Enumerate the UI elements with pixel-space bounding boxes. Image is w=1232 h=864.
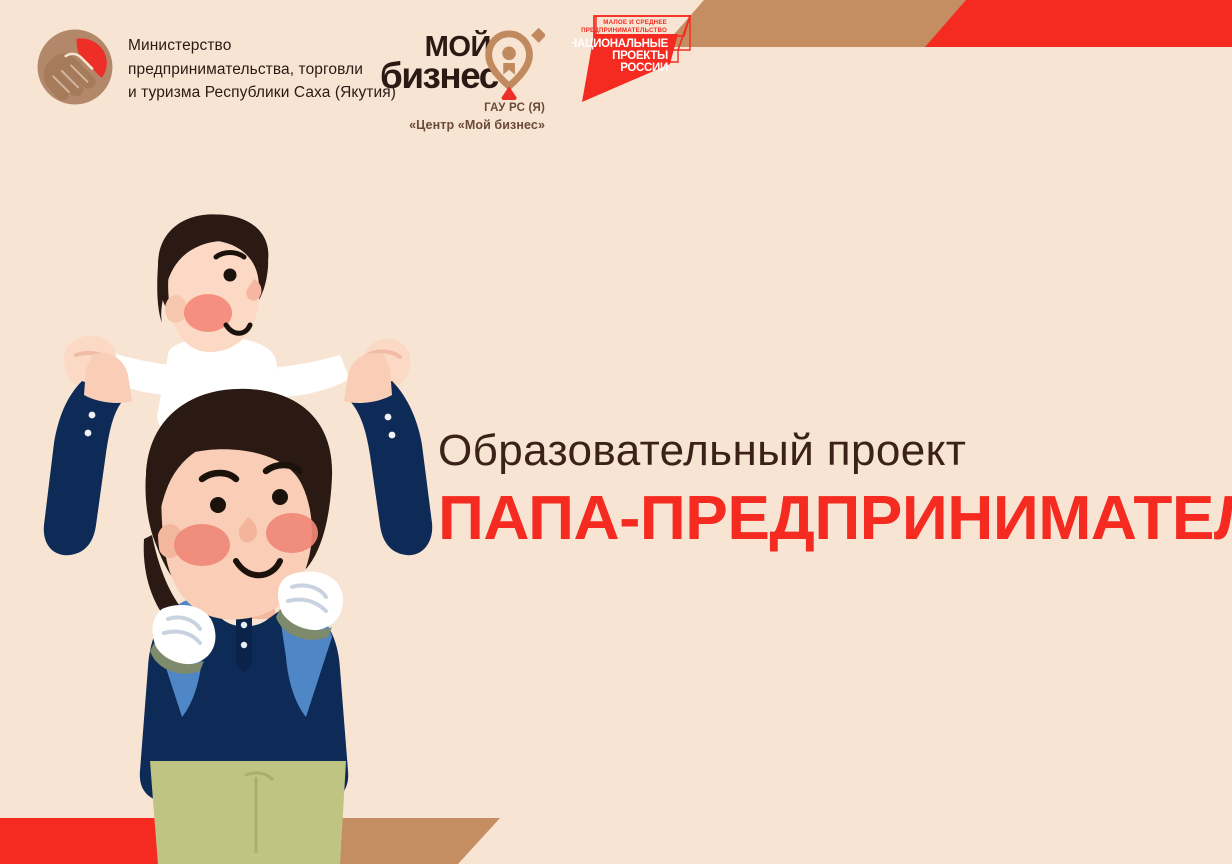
mybiz-sub-line2: «Центр «Мой бизнес» xyxy=(380,117,545,134)
child-ear xyxy=(165,295,187,323)
father-eye-right xyxy=(272,489,288,505)
father-shirt-button-2 xyxy=(241,642,247,648)
father-eye-left xyxy=(210,497,226,513)
natproj-main-line3: РОССИИ xyxy=(620,62,668,74)
my-business-logo: МОЙ бизнес ГАУ РС (Я) «Центр «Мой бизнес… xyxy=(380,24,545,133)
father-right-cuff-button-2 xyxy=(389,432,396,439)
top-banner-brown-shape xyxy=(663,0,1232,47)
national-projects-russia-logo: МАЛОЕ И СРЕДНЕЕ ПРЕДПРИНИМАТЕЛЬСТВО НАЦИ… xyxy=(572,2,712,110)
my-business-wordmark: МОЙ бизнес xyxy=(380,24,545,100)
natproj-kicker-line1: МАЛОЕ И СРЕДНЕЕ xyxy=(603,19,667,26)
headline-block: Образовательный проект ПАПА-ПРЕДПРИНИМАТ… xyxy=(438,428,1228,550)
ministry-logo: Министерство предпринимательства, торгов… xyxy=(36,28,396,106)
father-cheek-right xyxy=(266,513,318,553)
father-right-cuff-button-1 xyxy=(385,414,392,421)
my-business-subtitle: ГАУ РС (Я) «Центр «Мой бизнес» xyxy=(380,101,545,133)
child-right-arm xyxy=(278,355,350,397)
mybiz-sub-line1: ГАУ РС (Я) xyxy=(380,101,545,117)
father-figure xyxy=(44,353,432,864)
headline-eyebrow: Образовательный проект xyxy=(438,428,1228,474)
poster-canvas: Министерство предпринимательства, торгов… xyxy=(0,0,1232,864)
father-right-sleeve xyxy=(348,381,432,555)
father-left-cuff-button-2 xyxy=(85,430,92,437)
father-right-forearm xyxy=(344,353,392,403)
handshake-circle-logo xyxy=(36,28,114,106)
father-and-son-illustration xyxy=(40,205,440,864)
father-pants xyxy=(150,761,346,864)
natproj-main-line2: ПРОЕКТЫ xyxy=(612,50,668,62)
top-banner-red-shape xyxy=(925,0,1232,47)
headline-title: ПАПА-ПРЕДПРИНИМАТЕЛЬ xyxy=(438,488,1232,550)
mybiz-word-biznes: бизнес xyxy=(380,55,499,96)
father-left-sleeve xyxy=(44,381,126,555)
child-eye xyxy=(224,269,237,282)
father-left-cuff-button-1 xyxy=(89,412,96,419)
father-shirt-button-1 xyxy=(241,622,247,628)
ministry-logo-text: Министерство предпринимательства, торгов… xyxy=(128,28,396,105)
header-logo-row: Министерство предпринимательства, торгов… xyxy=(0,0,720,140)
father-cheek-left xyxy=(174,524,230,566)
natproj-main-line1: НАЦИОНАЛЬНЫЕ xyxy=(572,38,669,50)
natproj-kicker-line2: ПРЕДПРИНИМАТЕЛЬСТВО xyxy=(581,27,667,34)
